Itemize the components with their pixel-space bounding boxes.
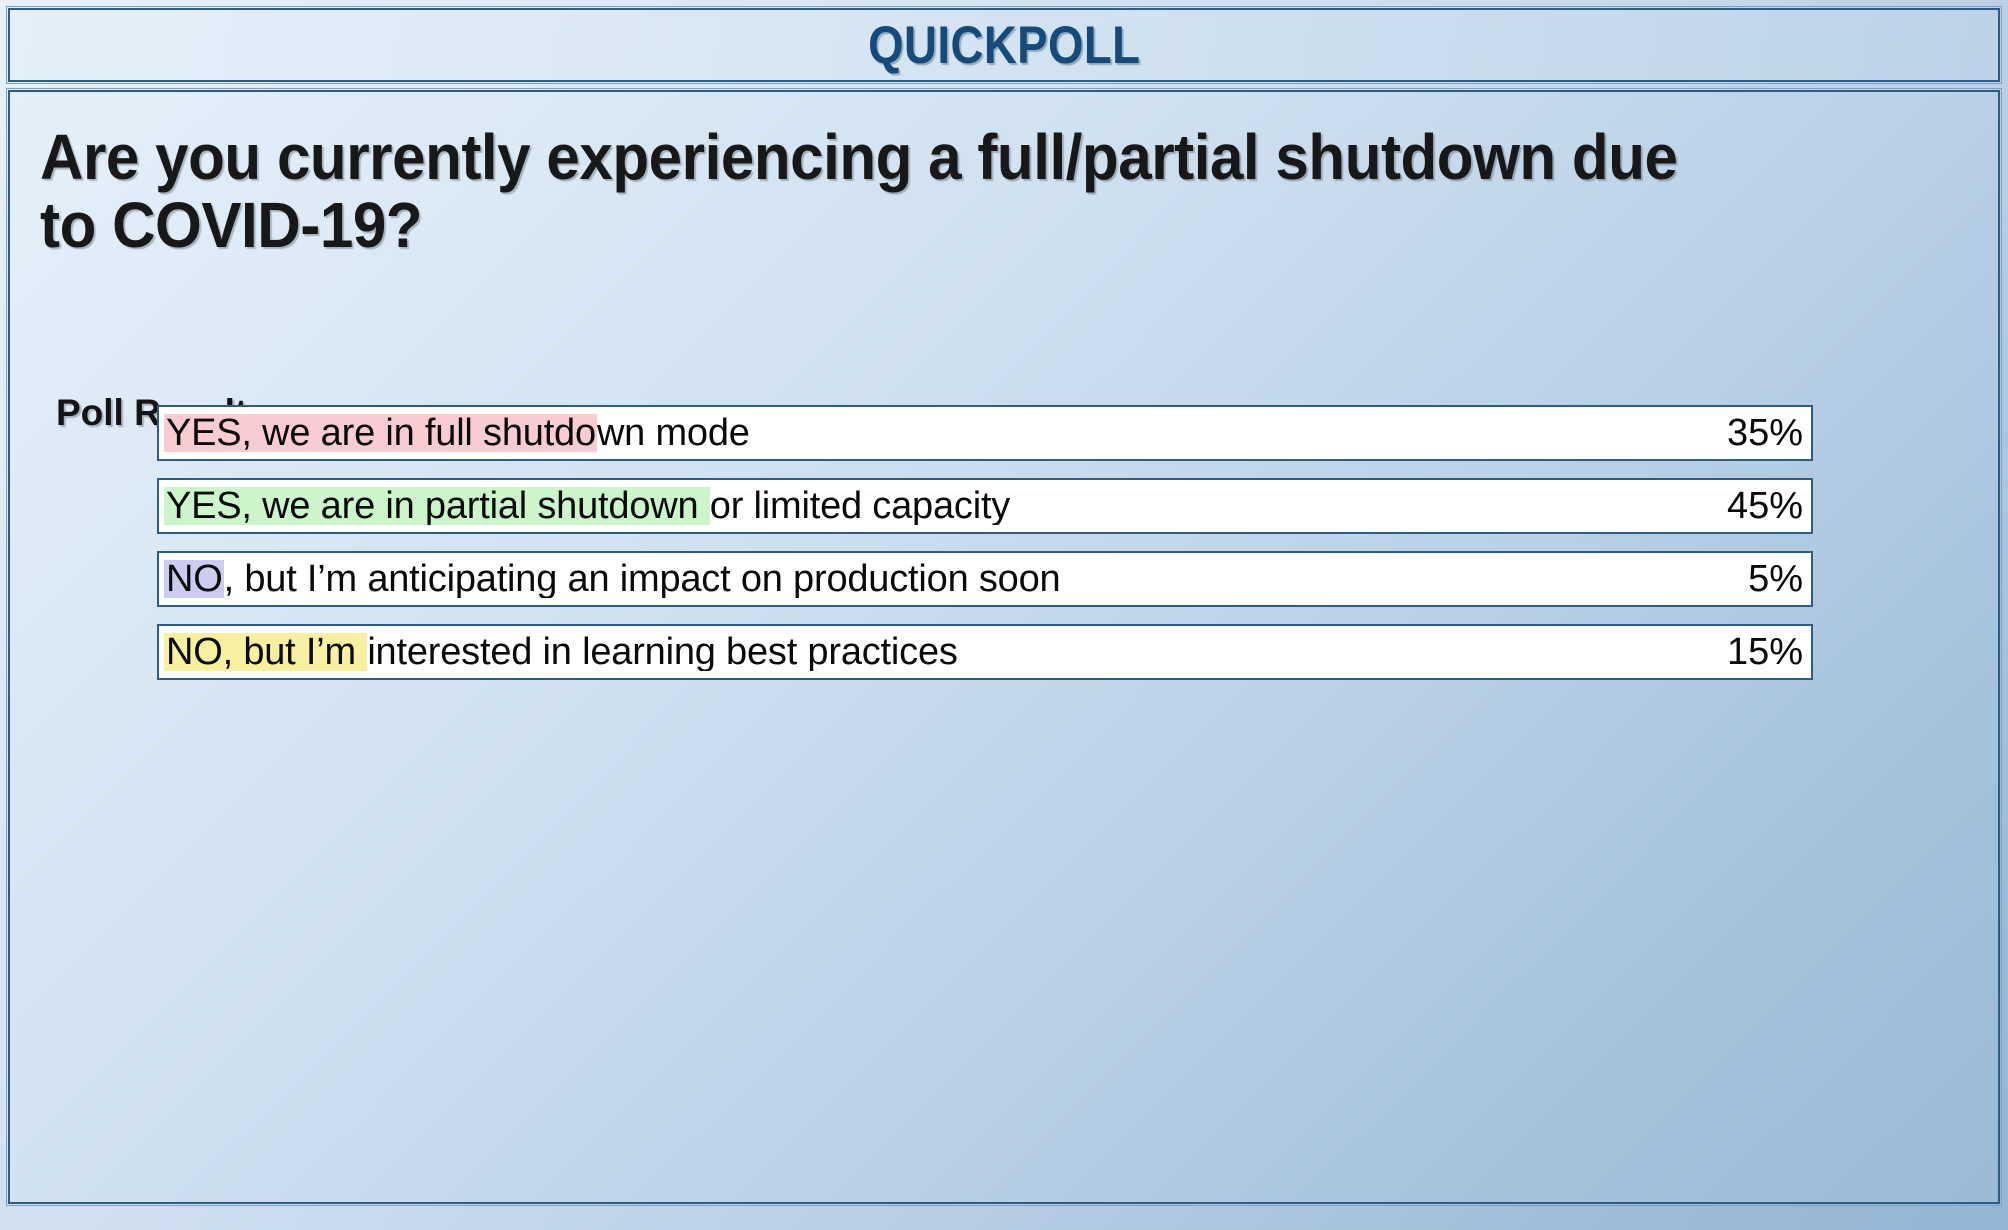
poll-option-percent: 5% [1730, 560, 1803, 598]
poll-result-row[interactable]: YES, we are in full shutdown mode35% [157, 405, 1813, 461]
slide-header: QUICKPOLL [8, 8, 2000, 82]
poll-option-text: interested in learning best practices [367, 633, 957, 671]
poll-option-percent: 15% [1709, 633, 1803, 671]
poll-option-percent: 45% [1709, 487, 1803, 525]
poll-option-highlight: NO, but I’m [164, 633, 367, 671]
poll-option-label: NO, but I’m interested in learning best … [164, 633, 1709, 671]
poll-option-label: YES, we are in partial shutdown or limit… [164, 487, 1709, 525]
poll-option-highlight: YES, we are in partial shutdown [164, 487, 710, 525]
poll-option-text: wn mode [597, 414, 750, 452]
poll-option-label: NO, but I’m anticipating an impact on pr… [164, 560, 1730, 598]
poll-slide: QUICKPOLL Are you currently experiencing… [0, 0, 2008, 1230]
poll-question: Are you currently experiencing a full/pa… [40, 124, 1694, 260]
poll-option-label: YES, we are in full shutdown mode [164, 414, 1709, 452]
poll-result-row[interactable]: NO, but I’m anticipating an impact on pr… [157, 551, 1813, 607]
poll-option-highlight: NO [164, 560, 224, 598]
page-title: QUICKPOLL [868, 15, 1140, 76]
poll-result-row[interactable]: YES, we are in partial shutdown or limit… [157, 478, 1813, 534]
poll-option-highlight: YES, we are in full shutdo [164, 414, 597, 452]
poll-results-list: YES, we are in full shutdown mode35%YES,… [157, 405, 1813, 697]
poll-option-text: or limited capacity [710, 487, 1010, 525]
poll-option-text: , but I’m anticipating an impact on prod… [224, 560, 1061, 598]
poll-result-row[interactable]: NO, but I’m interested in learning best … [157, 624, 1813, 680]
slide-body-panel: Are you currently experiencing a full/pa… [8, 90, 2000, 1204]
poll-option-percent: 35% [1709, 414, 1803, 452]
